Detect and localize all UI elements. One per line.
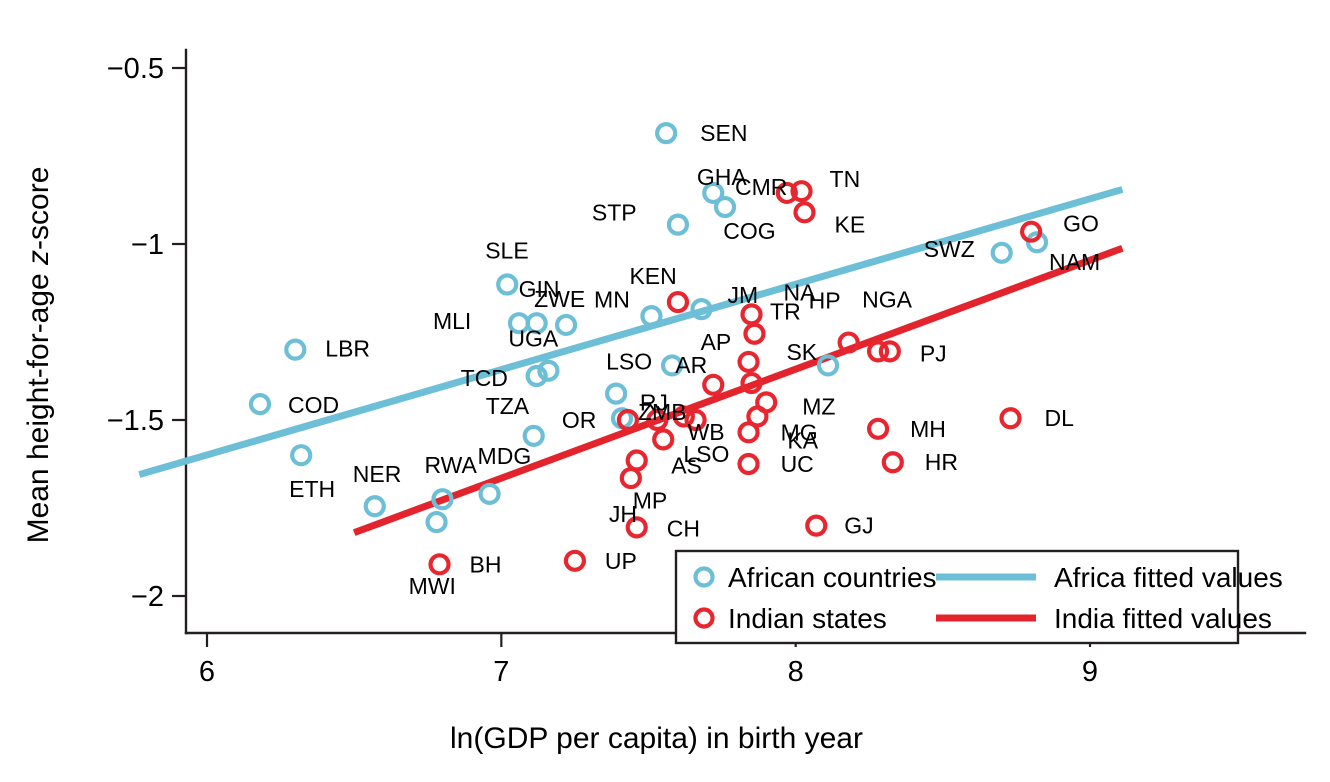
data-point-swz bbox=[993, 244, 1011, 262]
data-point-uc bbox=[740, 455, 758, 473]
data-point-bh bbox=[431, 555, 449, 573]
data-point-jh bbox=[622, 469, 640, 487]
point-label-rj: RJ bbox=[640, 389, 668, 415]
point-label-mn: MN bbox=[594, 286, 630, 312]
chart-container: −0.5−1−1.5−26789ln(GDP per capita) in bi… bbox=[0, 0, 1330, 782]
point-label-mwi: MWI bbox=[409, 573, 456, 599]
point-label-up: UP bbox=[605, 548, 637, 574]
y-axis-tick-label: −0.5 bbox=[107, 53, 164, 85]
data-point-mg bbox=[740, 423, 758, 441]
x-axis-tick-label: 6 bbox=[199, 656, 215, 688]
point-label-wb: WB bbox=[688, 419, 725, 445]
point-label-gha: GHA bbox=[697, 164, 748, 190]
point-label-mg: MG bbox=[781, 419, 818, 445]
point-label-hr: HR bbox=[925, 449, 958, 475]
point-label-mz: MZ bbox=[802, 393, 835, 419]
data-point-hr bbox=[884, 453, 902, 471]
point-label-or: OR bbox=[562, 407, 597, 433]
point-label-uga: UGA bbox=[508, 326, 558, 352]
point-label-nam: NAM bbox=[1049, 249, 1100, 275]
point-label-mli: MLI bbox=[433, 308, 471, 334]
x-axis-tick-label: 9 bbox=[1082, 656, 1098, 688]
data-point-ke bbox=[795, 203, 813, 221]
legend-label-africa-line[interactable]: Africa fitted values bbox=[1054, 562, 1283, 593]
point-label-lso: LSO bbox=[606, 349, 652, 375]
point-label-stp: STP bbox=[592, 200, 637, 226]
point-label-gj: GJ bbox=[844, 513, 873, 539]
point-label-swz: SWZ bbox=[924, 236, 975, 262]
point-label-mh: MH bbox=[910, 416, 946, 442]
point-label-ap: AP bbox=[701, 329, 732, 355]
point-label-eth: ETH bbox=[289, 476, 335, 502]
data-point-cod bbox=[251, 395, 269, 413]
data-point-up bbox=[566, 552, 584, 570]
data-point-lso bbox=[607, 385, 625, 403]
y-axis-title: Mean height-for-age z-score bbox=[22, 167, 55, 544]
scatter-plot: −0.5−1−1.5−26789ln(GDP per capita) in bi… bbox=[0, 0, 1330, 782]
point-label-jm: JM bbox=[727, 282, 758, 308]
point-label-cog: COG bbox=[723, 218, 775, 244]
point-label-ch: CH bbox=[667, 515, 700, 541]
x-axis-title: ln(GDP per capita) in birth year bbox=[450, 722, 863, 755]
data-point-mdg bbox=[481, 485, 499, 503]
data-point-mwi bbox=[428, 513, 446, 531]
legend[interactable]: African countriesAfrica fitted valuesInd… bbox=[676, 551, 1283, 643]
point-label-mp: MP bbox=[633, 487, 668, 513]
point-label-lbr: LBR bbox=[325, 336, 370, 362]
legend-label-india-line[interactable]: India fitted values bbox=[1054, 603, 1272, 634]
data-point-eth bbox=[292, 446, 310, 464]
data-point-mp bbox=[628, 451, 646, 469]
point-label-dl: DL bbox=[1045, 405, 1075, 431]
point-label-sk: SK bbox=[786, 339, 817, 365]
point-label-sen: SEN bbox=[700, 120, 747, 146]
data-point-cmr bbox=[716, 198, 734, 216]
y-axis-tick-label: −1.5 bbox=[107, 405, 164, 437]
point-label-zwe: ZWE bbox=[534, 286, 585, 312]
point-label-rwa: RWA bbox=[424, 452, 477, 478]
data-point-as bbox=[654, 430, 672, 448]
data-point-sen bbox=[657, 124, 675, 142]
data-point-stp bbox=[669, 216, 687, 234]
point-label-bh: BH bbox=[470, 551, 502, 577]
data-point-gj bbox=[807, 517, 825, 535]
point-label-tn: TN bbox=[830, 166, 861, 192]
data-point-ner bbox=[366, 497, 384, 515]
point-label-ke: KE bbox=[834, 211, 865, 237]
point-label-mdg: MDG bbox=[478, 443, 532, 469]
data-point-mn bbox=[669, 293, 687, 311]
point-labels-group: CODLBRETHNERMWIRWAMDGSLEMLITZAGINTCDUGAZ… bbox=[288, 120, 1100, 599]
point-label-hp: HP bbox=[809, 288, 841, 314]
data-point-pj bbox=[881, 342, 899, 360]
point-label-tcd: TCD bbox=[461, 365, 508, 391]
point-label-ner: NER bbox=[353, 461, 402, 487]
legend-label-africa-marker[interactable]: African countries bbox=[728, 562, 937, 593]
data-point-ar bbox=[704, 376, 722, 394]
point-label-go: GO bbox=[1063, 211, 1099, 237]
legend-label-india-marker[interactable]: Indian states bbox=[728, 603, 887, 634]
point-label-nga: NGA bbox=[862, 286, 913, 312]
point-label-sle: SLE bbox=[485, 237, 528, 263]
point-label-pj: PJ bbox=[920, 340, 947, 366]
point-label-cod: COD bbox=[288, 392, 339, 418]
x-axis-tick-label: 8 bbox=[788, 656, 804, 688]
data-point-zwe bbox=[557, 316, 575, 334]
data-point-sle bbox=[498, 275, 516, 293]
point-label-uc: UC bbox=[781, 451, 814, 477]
data-point-ap bbox=[740, 353, 758, 371]
data-point-dl bbox=[1002, 409, 1020, 427]
point-label-ar: AR bbox=[675, 352, 707, 378]
point-label-ken: KEN bbox=[629, 263, 676, 289]
data-point-lbr bbox=[286, 341, 304, 359]
point-label-tza: TZA bbox=[486, 393, 530, 419]
y-axis-tick-label: −1 bbox=[131, 229, 164, 261]
y-axis-tick-label: −2 bbox=[131, 581, 164, 613]
x-axis-tick-label: 7 bbox=[493, 656, 509, 688]
data-point-sk bbox=[745, 325, 763, 343]
data-point-mh bbox=[869, 420, 887, 438]
